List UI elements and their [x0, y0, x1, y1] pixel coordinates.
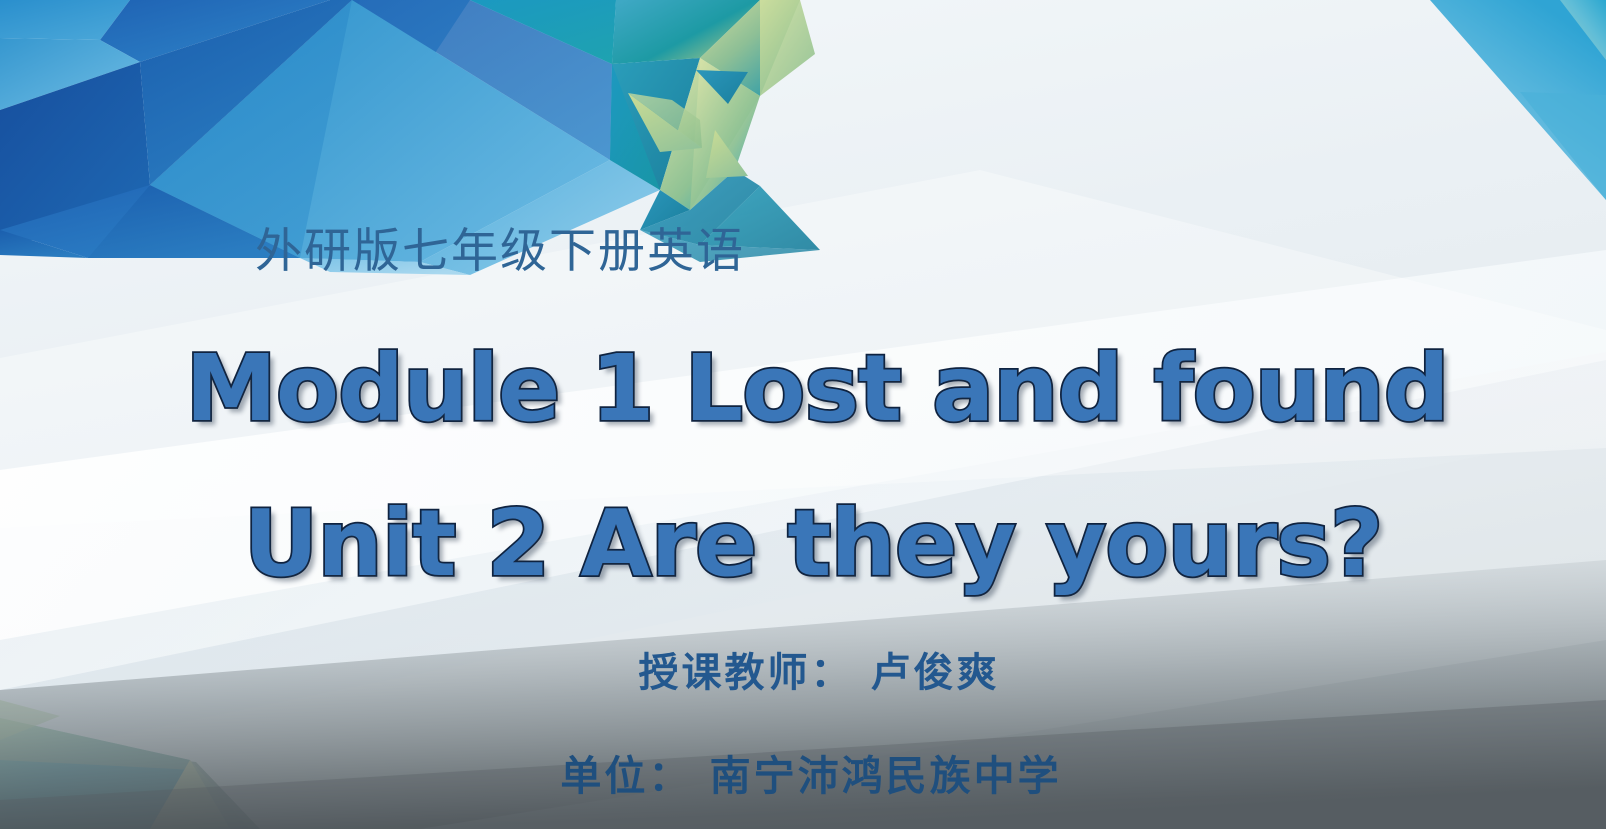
course-subtitle: 外研版七年级下册英语: [255, 228, 745, 275]
slide-text-layer: 外研版七年级下册英语 Module 1 Lost and found Unit …: [0, 0, 1606, 829]
school-credit: 单位： 南宁沛鸿民族中学: [0, 742, 1606, 802]
title-slide: 外研版七年级下册英语 Module 1 Lost and found Unit …: [0, 0, 1606, 829]
module-title-line: Module 1 Lost and found: [0, 335, 1606, 442]
unit-title-line: Unit 2 Are they yours?: [0, 490, 1606, 597]
teacher-credit: 授课教师： 卢俊爽: [0, 640, 1606, 698]
